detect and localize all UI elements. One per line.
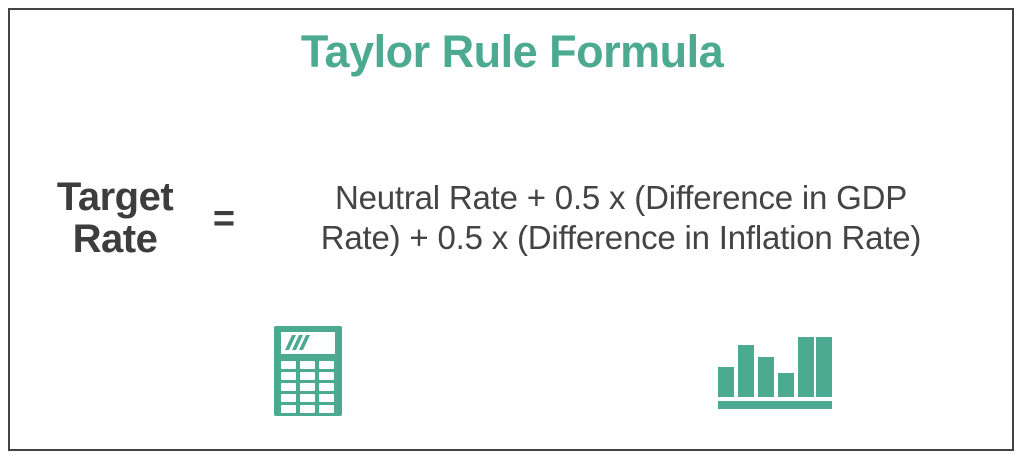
formula-block: Target Rate = Neutral Rate + 0.5 x (Diff… (30, 176, 994, 260)
bar-1 (718, 367, 734, 397)
formula-left-side: Target Rate (30, 176, 200, 260)
formula-left-line-1: Target (30, 176, 200, 218)
bar-chart-bars (718, 337, 832, 397)
bar-chart-icon (716, 334, 834, 412)
calculator-keypad (281, 361, 334, 413)
formula-right-line-2: Rate) + 0.5 x (Difference in Inflation R… (248, 218, 994, 258)
bar-6 (816, 337, 832, 397)
formula-right-side: Neutral Rate + 0.5 x (Difference in GDP … (248, 178, 994, 259)
bar-5 (798, 337, 814, 397)
bar-3 (758, 357, 774, 397)
calculator-icon (274, 326, 342, 416)
calculator-icon-svg (274, 326, 342, 416)
bar-chart-icon-svg (716, 334, 834, 412)
bar-4 (778, 373, 794, 397)
formula-right-line-1: Neutral Rate + 0.5 x (Difference in GDP (248, 178, 994, 218)
page-title: Taylor Rule Formula (0, 28, 1024, 75)
page-canvas: Taylor Rule Formula Target Rate = Neutra… (0, 0, 1024, 461)
bar-chart-baseline (718, 401, 832, 409)
bar-2 (738, 345, 754, 397)
formula-left-line-2: Rate (30, 218, 200, 260)
equals-sign: = (200, 200, 248, 238)
